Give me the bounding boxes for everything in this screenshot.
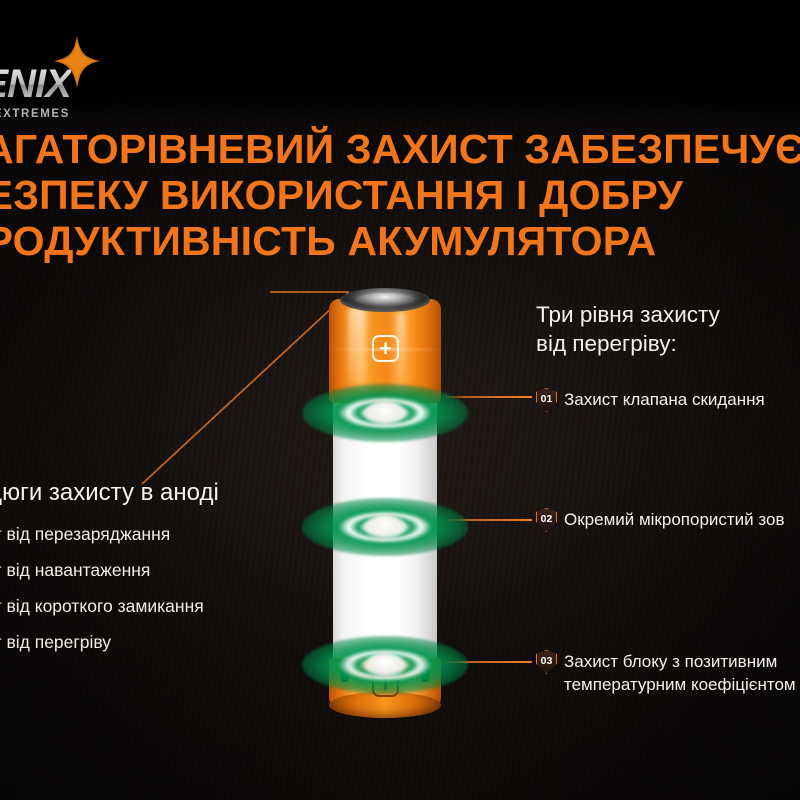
headline-line-2: БЕЗПЕКУ ВИКОРИСТАННЯ І ДОБРУ	[0, 172, 800, 218]
glow-core	[365, 515, 405, 538]
shield-badge-icon: 02	[536, 508, 557, 532]
shield-badge-icon: 01	[536, 388, 557, 412]
shield-number: 03	[536, 650, 557, 674]
battery-positive-symbol: +	[379, 339, 392, 359]
brand-name: FENIX	[0, 62, 71, 107]
headline-line-3: ПРОДУКТИВНІСТЬ АКУМУЛЯТОРА	[0, 218, 800, 264]
page-headline: БАГАТОРІВНЕВИЙ ЗАХИСТ ЗАБЕЗПЕЧУЄ БЕЗПЕКУ…	[0, 126, 800, 264]
anode-protection-item-3: Захист від короткого замикання	[0, 595, 366, 618]
battery-terminal-inner	[355, 293, 415, 306]
protection-glow-ring-1	[302, 384, 468, 442]
right-panel-title: Три рівня захисту від перегріву:	[536, 300, 800, 358]
left-panel-title: Ланцюги захисту в аноді	[0, 478, 366, 508]
shield-number: 01	[536, 388, 557, 412]
shield-badge-icon: 03	[536, 650, 557, 674]
headline-line-1: БАГАТОРІВНЕВИЙ ЗАХИСТ ЗАБЕЗПЕЧУЄ	[0, 126, 800, 172]
brand-tagline: FOR EXTREMES	[0, 108, 70, 120]
brand-logo: FENIX FOR EXTREMES	[0, 40, 138, 110]
anode-protection-item-4: Захист від перегріву	[0, 631, 366, 654]
protection-item-01-label: Захист клапана скидання	[564, 389, 765, 411]
anode-protection-item-1: Захист від перезаряджання	[0, 523, 366, 546]
protection-item-01: 01 Захист клапана скидання	[536, 388, 765, 412]
battery-positive-icon: +	[372, 335, 399, 362]
protection-item-03: 03 Захист блоку з позитивним температурн…	[536, 650, 796, 696]
protection-item-02-label: Окремий мікропористий зов	[564, 509, 785, 531]
right-panel-title-line-2: від перегріву:	[536, 329, 800, 358]
shield-number: 02	[536, 508, 557, 532]
glow-core	[365, 653, 405, 676]
protection-item-03-label-line-2: температурним коефіцієнтом	[536, 674, 796, 696]
right-panel-title-line-1: Три рівня захисту	[536, 300, 800, 329]
protection-item-02: 02 Окремий мікропористий зов	[536, 508, 785, 532]
battery-cap-highlight	[348, 306, 366, 384]
glow-core	[365, 401, 405, 424]
anode-protection-item-2: Захист від навантаження	[0, 559, 366, 582]
protection-item-03-label: Захист блоку з позитивним	[564, 651, 777, 673]
